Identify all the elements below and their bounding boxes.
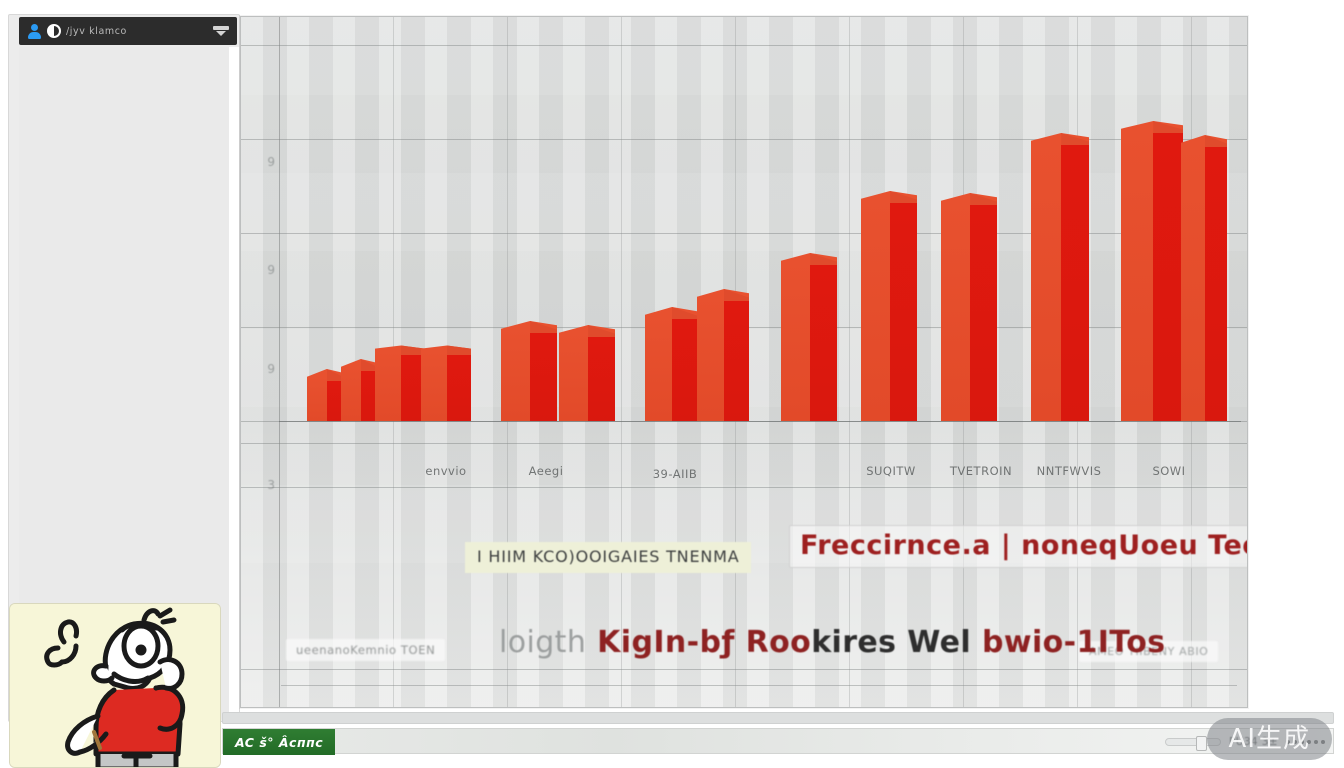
ai-generated-watermark: AI生成 [1207,718,1332,760]
bar-1 [307,369,345,421]
bar-5 [501,321,557,421]
highlighted-subtitle: I HIIM KCO)OOIGAIES TNENMA [465,542,751,573]
x-tick-label: Aeegi [529,464,564,478]
bar-8 [697,289,749,421]
caption-part-dark: kires Wel [811,625,971,660]
chart-window: 9 9 9 3 [240,16,1248,708]
chart-plot-area: 9 9 9 3 [241,17,1247,707]
contrast-circle-icon[interactable] [47,24,61,38]
screen-root: /jyv klamco [0,0,1344,768]
caption-part-maroon: KigIn-bƒ Roo [597,625,811,660]
bar-7 [645,307,697,421]
left-panel-header-label: /jyv klamco [66,26,208,37]
chart-caption: loigth KigIn-bƒ Rookires Wel bwio-1ITos [499,625,1166,660]
bar-11 [941,193,997,421]
bar-3 [375,343,425,421]
caption-part-grey: loigth [499,625,586,660]
bar-6 [559,325,615,421]
taskbar-rail [222,712,1334,724]
x-tick-label: TVETROIN [950,464,1012,478]
y-tick-label: 9 [249,362,275,376]
bar-4 [421,343,471,421]
bar-12 [1031,133,1089,421]
bar-2 [341,359,379,421]
person-icon [27,24,42,39]
cartoon-boy-illustration [10,604,221,768]
x-tick-label: SUQITW [866,464,916,478]
taskbar-app-button[interactable]: AC š° Âсппс [223,729,335,755]
bar-14 [1181,135,1227,421]
bar-10 [861,191,917,421]
caption-part-maroon-2: bwio-1ITos [982,625,1166,660]
flag-menu-icon[interactable] [213,25,229,37]
y-tick-label: 3 [249,478,275,492]
x-tick-label: envvio [425,464,466,478]
x-tick-label: NNTFWVIS [1037,464,1102,478]
cartoon-illustration-card [9,603,221,768]
y-tick-label: 9 [249,263,275,277]
caption-divider [281,685,1237,686]
left-panel-header[interactable]: /jyv klamco [19,17,237,45]
taskbar: AC š° Âсппс PU34 3± [222,728,1334,754]
bar-13 [1121,121,1183,421]
x-tick-label: SOWI [1152,464,1185,478]
chart-title: Freccirnce.a | noneqUoeu Teoeos [789,525,1248,568]
bar-9 [781,253,837,421]
y-tick-label: 9 [249,155,275,169]
ghost-label-left: ueenanoKemnio TOEN [286,639,445,661]
left-panel-strip [229,47,239,719]
x-tick-label: 39-AIIB [653,467,698,481]
